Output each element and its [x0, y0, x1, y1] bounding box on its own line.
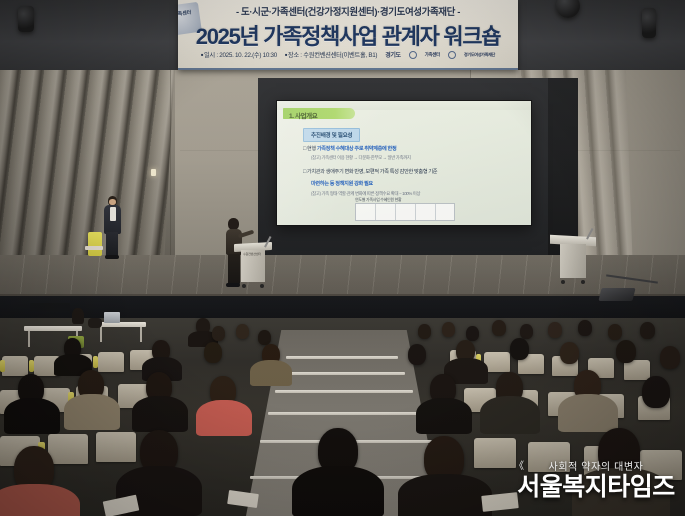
banner-logo-foundation: 경기도여성가족재단	[464, 52, 495, 58]
audience-shoulders	[398, 474, 492, 516]
audience-head	[660, 346, 680, 369]
seat	[624, 360, 650, 380]
audience-shoulders	[132, 396, 188, 432]
podium-body: 수원컨벤션센터	[241, 250, 265, 282]
seat	[98, 352, 124, 372]
seat-arm	[93, 356, 98, 368]
banner-logo-foundation-icon	[448, 51, 456, 59]
audience-shoulders	[558, 394, 618, 432]
operator-person	[72, 308, 84, 324]
second-lectern-body	[560, 244, 586, 278]
audience-head	[408, 344, 426, 365]
podium-label: 수원컨벤션센터	[243, 252, 261, 256]
audience-head	[492, 320, 506, 336]
banner-date: 일시 : 2025. 10. 22.(수) 10:30	[201, 50, 277, 59]
staff-shoes	[105, 255, 119, 259]
conference-photo: 가족센터 경기도 - 도·시군·가족센터(건강가정지원센터)·경기도여성가족재단…	[0, 0, 685, 516]
audience-head	[578, 320, 592, 336]
ceiling-light-bar-left	[18, 6, 34, 32]
banner-info-row: 일시 : 2025. 10. 22.(수) 10:30 장소 : 수원컨벤션센터…	[178, 50, 518, 59]
audience-head	[442, 322, 455, 337]
projection-screen-frame: 1. 사업개요 추진배경 및 필요성 □ 현행 가족정책 수혜대상 주로 취약계…	[276, 100, 532, 226]
slide-bullet-1: □ 현행 가족정책 수혜대상 주로 취약계층에 한정	[303, 145, 396, 152]
second-lectern-wheel-right	[581, 280, 585, 284]
audience-head	[236, 324, 249, 339]
banner-logo-center: 가족센터	[425, 52, 440, 58]
podium-wheel-left	[242, 284, 246, 288]
audience-shoulders	[292, 466, 384, 516]
audience-shoulders	[4, 398, 60, 434]
staff-shirt	[110, 207, 116, 221]
floor-monitor-speaker	[598, 288, 635, 301]
audience-shoulders	[64, 394, 120, 430]
banner-place: 장소 : 수원컨벤션센터(이벤트홀, B1)	[285, 50, 377, 59]
seat-arm	[29, 360, 34, 372]
audience-head	[466, 326, 479, 341]
audience-shoulders	[416, 398, 472, 434]
ops-table-right-leg-a	[100, 327, 102, 342]
audience-shoulders	[250, 360, 292, 386]
audience-shoulders	[196, 400, 252, 436]
audience-shoulders	[480, 396, 540, 434]
podium: 수원컨벤션센터	[238, 243, 268, 285]
equipment-case	[30, 303, 70, 311]
seat	[474, 438, 516, 468]
audience-head	[418, 324, 431, 339]
audience-head	[560, 342, 579, 364]
slide-section-tab: 1. 사업개요	[283, 108, 355, 119]
ops-table-left-leg-a	[28, 331, 30, 347]
podium-wheel-right	[260, 284, 264, 288]
ceiling-light-bar	[642, 8, 656, 38]
banner-title: 2025년 가족정책사업 관계자 워크숍	[178, 19, 518, 51]
audience-head	[520, 324, 533, 339]
aisle-step-4	[268, 412, 422, 415]
slide-bullet-2: □ 가치관과 생애주기 변화 반영, 보편적 가족 특성 감안한 맞춤형 기준	[303, 168, 437, 175]
second-lectern-wheel-left	[561, 280, 565, 284]
slide-subnote-1: (참고) 가족센터 이용 현황 → 다문화·한부모 → 일반 가족까지	[311, 155, 411, 161]
audience-head	[548, 322, 562, 338]
aisle-step-1	[286, 356, 398, 359]
seat	[528, 442, 570, 472]
audience-head	[640, 322, 655, 339]
aisle-step-3	[275, 390, 413, 393]
banner-logo-center-icon	[409, 51, 417, 59]
stage-chair-yellow	[88, 232, 102, 256]
audience-head	[212, 326, 225, 341]
staff-legs	[106, 232, 118, 256]
ops-table-left	[24, 326, 82, 331]
event-banner: 가족센터 경기도 - 도·시군·가족센터(건강가정지원센터)·경기도여성가족재단…	[178, 0, 518, 70]
audience-head	[510, 338, 529, 360]
audience-head	[616, 340, 636, 363]
projection-screen: 1. 사업개요 추진배경 및 필요성 □ 현행 가족정책 수혜대상 주로 취약계…	[277, 101, 531, 225]
aisle-step-2	[281, 372, 405, 375]
banner-logo-gyeonggi: 경기도	[385, 50, 400, 59]
audience-head	[642, 376, 670, 408]
slide-subheading: 추진배경 및 필요성	[303, 128, 360, 142]
wall-light	[151, 169, 156, 176]
seat-arm	[0, 360, 5, 372]
ops-table-right-leg-b	[140, 327, 142, 342]
audience-head	[258, 330, 271, 345]
slide-data-table	[355, 203, 455, 221]
operator-shoulder	[88, 318, 102, 328]
laptop	[104, 312, 120, 323]
banner-subtitle: - 도·시군·가족센터(건강가정지원센터)·경기도여성가족재단 -	[178, 4, 518, 18]
audience-head	[608, 324, 622, 340]
seat	[48, 434, 88, 464]
seat	[96, 432, 136, 462]
slide-bullet-2-cont: 마련하는 등 정책지원 강화 필요	[311, 180, 373, 187]
audience-shoulders	[572, 468, 670, 516]
second-lectern	[556, 236, 590, 284]
audience-head	[204, 342, 222, 363]
seat	[2, 356, 28, 376]
